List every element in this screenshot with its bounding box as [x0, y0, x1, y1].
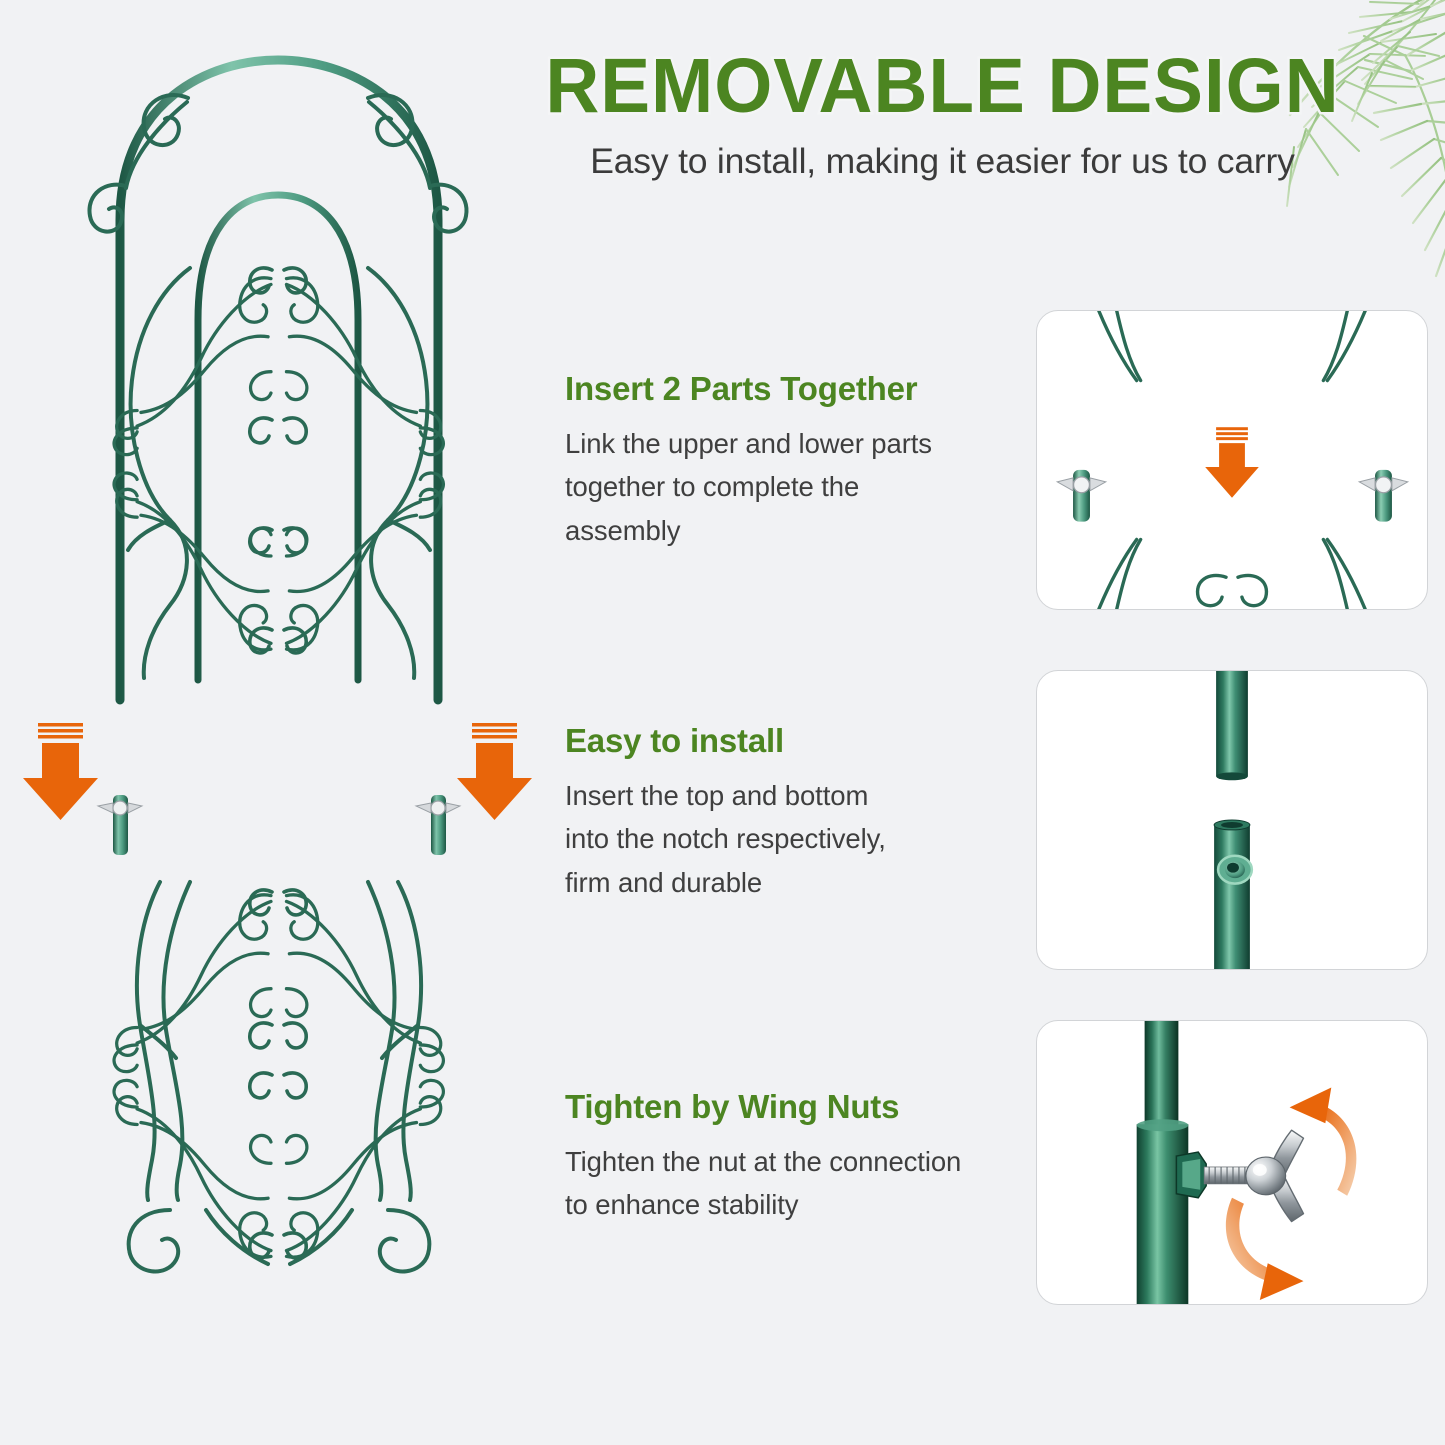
feature-body-line: together to complete the — [565, 465, 1035, 508]
feature-easy-to-install: Easy to install Insert the top and botto… — [565, 722, 1035, 904]
feature-body-line: assembly — [565, 509, 1035, 552]
feature-body-line: Insert the top and bottom — [565, 774, 1035, 817]
insert-two-parts-diagram — [1037, 311, 1427, 609]
insert-two-parts-detail-panel — [1036, 310, 1428, 610]
header: REMOVABLE DESIGN Easy to install, making… — [455, 48, 1430, 182]
wing-nut-head-icon — [1246, 1130, 1304, 1221]
feature-body-line: to enhance stability — [565, 1183, 1035, 1226]
outer-sleeve-pipe-icon — [1137, 1119, 1189, 1304]
feature-body: Link the upper and lower parts together … — [565, 422, 1035, 552]
notch-connection-detail-panel — [1036, 670, 1428, 970]
wing-nut-tighten-detail-panel — [1036, 1020, 1428, 1305]
feature-body: Insert the top and bottom into the notch… — [565, 774, 1035, 904]
left-insert-arrow — [23, 723, 98, 820]
feature-heading: Tighten by Wing Nuts — [565, 1088, 1035, 1126]
right-wing-nut-icon — [1359, 477, 1408, 493]
feature-heading: Insert 2 Parts Together — [565, 370, 1035, 408]
right-wing-nut — [416, 801, 460, 815]
garden-trellis-illustration — [20, 20, 540, 1420]
feature-body-line: into the notch respectively, — [565, 817, 1035, 860]
down-arrow-icon — [1205, 427, 1259, 498]
feature-body-line: Tighten the nut at the connection — [565, 1140, 1035, 1183]
hex-nut-icon — [1176, 1152, 1206, 1198]
page-title: REMOVABLE DESIGN — [470, 48, 1416, 125]
feature-body: Tighten the nut at the connection to enh… — [565, 1140, 1035, 1227]
left-wing-nut-icon — [1057, 477, 1106, 493]
lower-tube-notch-icon — [1214, 820, 1252, 969]
feature-body-line: firm and durable — [565, 861, 1035, 904]
right-insert-arrow — [457, 723, 532, 820]
feature-heading: Easy to install — [565, 722, 1035, 760]
feature-body-line: Link the upper and lower parts — [565, 422, 1035, 465]
wing-nut-diagram — [1037, 1021, 1427, 1304]
upper-tube-icon — [1216, 671, 1248, 780]
feature-insert-2-parts: Insert 2 Parts Together Link the upper a… — [565, 370, 1035, 552]
feature-tighten-wing-nuts: Tighten by Wing Nuts Tighten the nut at … — [565, 1088, 1035, 1227]
left-wing-nut — [98, 801, 142, 815]
inner-pipe-icon — [1145, 1021, 1179, 1134]
tube-notch-diagram — [1037, 671, 1427, 969]
page-subtitle: Easy to install, making it easier for us… — [455, 141, 1430, 182]
